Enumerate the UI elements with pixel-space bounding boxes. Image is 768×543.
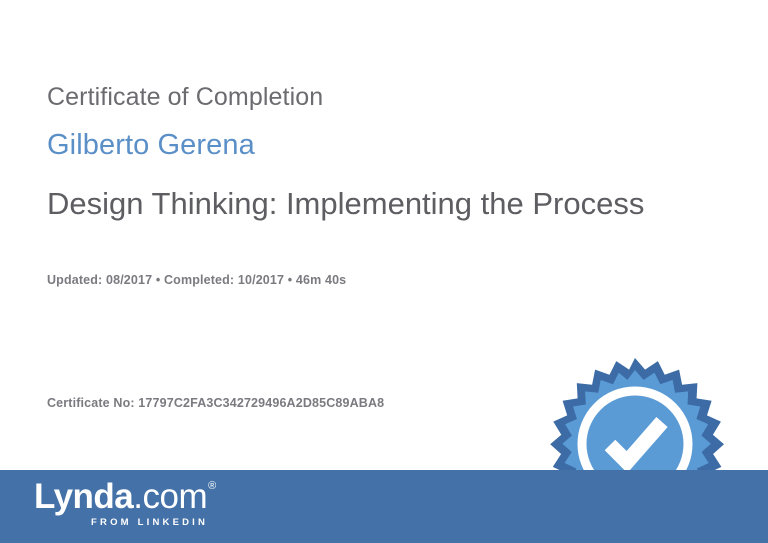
- recipient-name: Gilberto Gerena: [47, 130, 255, 162]
- brand-wordmark: Lynda.com®: [34, 479, 254, 514]
- brand-name-primary: Lynda: [34, 477, 133, 516]
- course-title: Design Thinking: Implementing the Proces…: [47, 186, 644, 222]
- certificate-of-completion: Certificate of Completion Gilberto Geren…: [0, 0, 768, 543]
- certificate-number: Certificate No: 17797C2FA3C342729496A2D8…: [47, 396, 384, 410]
- lynda-com-logo: Lynda.com® FROM LINKEDIN: [34, 479, 254, 535]
- brand-tagline: FROM LINKEDIN: [91, 517, 208, 528]
- course-metadata: Updated: 08/2017 • Completed: 10/2017 • …: [47, 273, 346, 287]
- registered-trademark-icon: ®: [208, 480, 216, 492]
- brand-name-secondary: .com: [133, 477, 207, 516]
- page-title: Certificate of Completion: [47, 84, 323, 112]
